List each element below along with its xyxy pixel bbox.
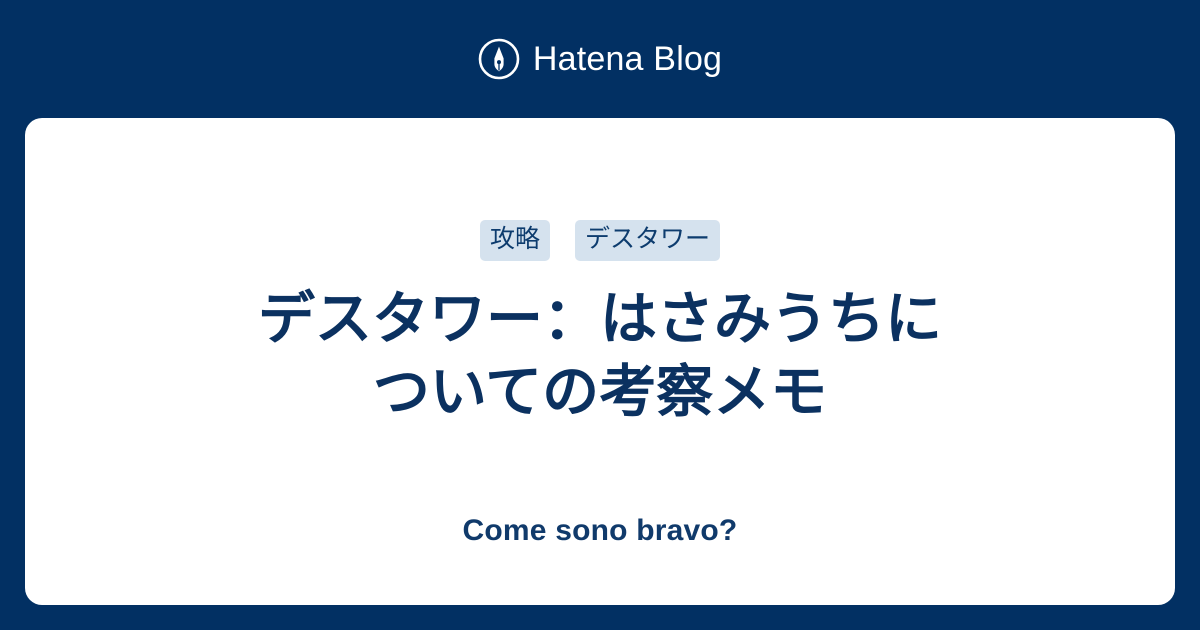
ogp-card-root: Hatena Blog 攻略 デスタワー デスタワー：はさみうちについての考察メ… <box>0 0 1200 630</box>
blog-name: Come sono bravo? <box>25 513 1175 549</box>
tag-chip[interactable]: 攻略 <box>480 220 550 261</box>
entry-card: 攻略 デスタワー デスタワー：はさみうちについての考察メモ Come sono … <box>25 118 1175 605</box>
brand-header: Hatena Blog <box>0 0 1200 118</box>
brand-name: Hatena Blog <box>533 42 722 76</box>
tag-chip[interactable]: デスタワー <box>575 220 720 261</box>
tag-list: 攻略 デスタワー <box>480 220 720 261</box>
entry-title: デスタワー：はさみうちについての考察メモ <box>250 283 950 429</box>
fountain-pen-nib-in-circle-icon <box>478 38 520 80</box>
